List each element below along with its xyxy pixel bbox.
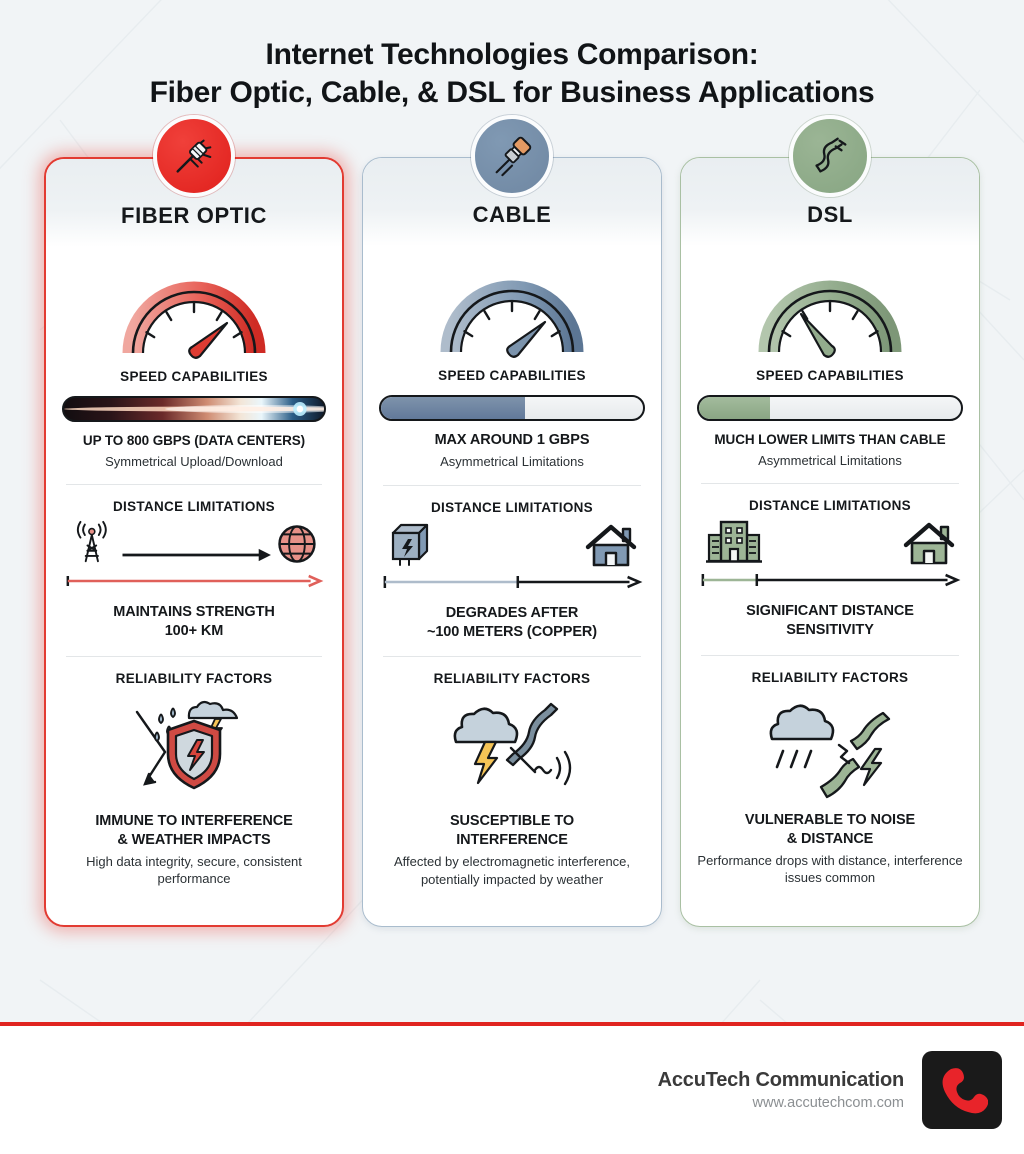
reliability-icon-wrap-cable — [377, 696, 647, 804]
badge-fiber-optic — [153, 115, 235, 197]
card-title-dsl: DSL — [681, 202, 979, 228]
column-cable: CABLE — [362, 157, 662, 927]
speed-headline-cable: MAX AROUND 1 GBPS — [377, 431, 647, 450]
reliability-headline-dsl-1: VULNERABLE TO NOISE — [695, 811, 965, 830]
distance-headline-dsl-1: SIGNIFICANT DISTANCE — [695, 602, 965, 621]
page-title: Internet Technologies Comparison: Fiber … — [0, 0, 1024, 113]
comparison-columns: FIBER OPTIC — [0, 157, 1024, 927]
speed-sub-fiber: Symmetrical Upload/Download — [60, 453, 328, 471]
section-label-reliability-dsl: RELIABILITY FACTORS — [695, 670, 965, 685]
distance-headline-fiber-1: MAINTAINS STRENGTH — [60, 603, 328, 622]
card-body-cable: SPEED CAPABILITIES MAX AROUND 1 GBPS Asy… — [363, 246, 661, 907]
badge-dsl — [789, 115, 871, 197]
infographic-page: Internet Technologies Comparison: Fiber … — [0, 0, 1024, 1154]
reliability-headline-cable-2: INTERFERENCE — [377, 831, 647, 850]
speed-bar-cable — [379, 395, 645, 421]
section-label-distance-cable: DISTANCE LIMITATIONS — [377, 500, 647, 515]
speed-headline-fiber: UP TO 800 GBPS (DATA CENTERS) — [60, 432, 328, 450]
brand-name: AccuTech Communication — [658, 1069, 904, 1092]
reliability-sub-fiber: High data integrity, secure, consistent … — [60, 853, 328, 888]
speed-bar-fill-dsl — [699, 397, 770, 419]
distance-icons-dsl — [695, 513, 965, 569]
speedometer-gauge-icon — [755, 268, 905, 360]
distance-headline-cable-1: DEGRADES AFTER — [377, 604, 647, 623]
card-title-fiber: FIBER OPTIC — [46, 203, 342, 229]
distance-icons-cable — [377, 515, 647, 571]
radio-tower-icon — [70, 516, 119, 568]
reliability-headline-fiber-2: & WEATHER IMPACTS — [60, 831, 328, 850]
speed-bar-fill-cable — [381, 397, 525, 419]
distance-headline-fiber-2: 100+ KM — [60, 622, 328, 641]
distance-headline-cable-2: ~100 METERS (COPPER) — [377, 623, 647, 642]
card-dsl[interactable]: DSL — [680, 157, 980, 927]
distance-icons-fiber — [60, 514, 328, 570]
reliability-headline-fiber-1: IMMUNE TO INTERFERENCE — [60, 812, 328, 831]
title-line-2: Fiber Optic, Cable, & DSL for Business A… — [0, 74, 1024, 112]
speed-bar-fiber — [62, 396, 326, 422]
card-cable[interactable]: CABLE — [362, 157, 662, 927]
reliability-icon-wrap-dsl — [695, 695, 965, 803]
section-label-speed-cable: SPEED CAPABILITIES — [377, 368, 647, 383]
rain-cloud-broken-wire-icon — [755, 695, 905, 803]
company-logo[interactable] — [922, 1051, 1002, 1129]
gauge-fiber-wrap — [60, 269, 328, 361]
divider-fiber-1 — [66, 484, 322, 485]
speed-sub-dsl: Asymmetrical Limitations — [695, 452, 965, 470]
section-label-reliability-cable: RELIABILITY FACTORS — [377, 671, 647, 686]
section-label-speed-fiber: SPEED CAPABILITIES — [60, 369, 328, 384]
gauge-dsl-wrap — [695, 268, 965, 360]
distance-axis-cable — [377, 571, 647, 604]
office-building-icon — [705, 517, 763, 567]
distance-arrow-fiber — [119, 542, 276, 568]
reliability-sub-dsl: Performance drops with distance, interfe… — [695, 852, 965, 887]
brand-block: AccuTech Communication www.accutechcom.c… — [658, 1069, 904, 1111]
section-label-speed-dsl: SPEED CAPABILITIES — [695, 368, 965, 383]
badge-cable — [471, 115, 553, 197]
speed-sub-cable: Asymmetrical Limitations — [377, 453, 647, 471]
card-fiber-optic[interactable]: FIBER OPTIC — [44, 157, 344, 927]
reliability-sub-cable: Affected by electromagnetic interference… — [377, 853, 647, 888]
divider-cable-1 — [383, 485, 641, 486]
reliability-headline-cable-1: SUSCEPTIBLE TO — [377, 812, 647, 831]
section-label-reliability-fiber: RELIABILITY FACTORS — [60, 671, 328, 686]
speed-bar-dsl — [697, 395, 963, 421]
network-box-icon — [387, 517, 435, 569]
title-line-1: Internet Technologies Comparison: — [0, 36, 1024, 74]
distance-axis-fiber — [60, 570, 328, 603]
reliability-headline-dsl-2: & DISTANCE — [695, 830, 965, 849]
house-icon — [585, 521, 637, 569]
distance-headline-dsl-2: SENSITIVITY — [695, 621, 965, 640]
fiber-light-streak — [64, 398, 324, 420]
gauge-cable-wrap — [377, 268, 647, 360]
card-title-cable: CABLE — [363, 202, 661, 228]
footer: AccuTech Communication www.accutechcom.c… — [0, 1026, 1024, 1154]
house-icon — [903, 519, 955, 567]
speedometer-gauge-icon — [437, 268, 587, 360]
brand-url[interactable]: www.accutechcom.com — [658, 1095, 904, 1111]
speedometer-gauge-icon — [119, 269, 269, 361]
divider-dsl-1 — [701, 483, 959, 484]
card-body-fiber: SPEED CAPABILITIES UP TO 800 GBPS (DATA … — [46, 247, 342, 906]
section-label-distance-fiber: DISTANCE LIMITATIONS — [60, 499, 328, 514]
divider-dsl-2 — [701, 655, 959, 656]
globe-icon — [276, 520, 318, 568]
card-body-dsl: SPEED CAPABILITIES MUCH LOWER LIMITS THA… — [681, 246, 979, 905]
divider-fiber-2 — [66, 656, 322, 657]
column-dsl: DSL — [680, 157, 980, 927]
phone-handset-icon — [936, 1064, 988, 1116]
distance-axis-dsl — [695, 569, 965, 602]
reliability-icon-wrap-fiber — [60, 696, 328, 804]
fiber-optic-cable-icon — [171, 133, 217, 179]
column-fiber-optic: FIBER OPTIC — [44, 157, 344, 927]
section-label-distance-dsl: DISTANCE LIMITATIONS — [695, 498, 965, 513]
speed-headline-dsl: MUCH LOWER LIMITS THAN CABLE — [695, 431, 965, 449]
twisted-pair-wire-icon — [807, 133, 853, 179]
storm-cloud-interference-icon — [437, 696, 587, 804]
coaxial-cable-icon — [489, 133, 535, 179]
shield-weather-protection-icon — [119, 696, 269, 804]
divider-cable-2 — [383, 656, 641, 657]
